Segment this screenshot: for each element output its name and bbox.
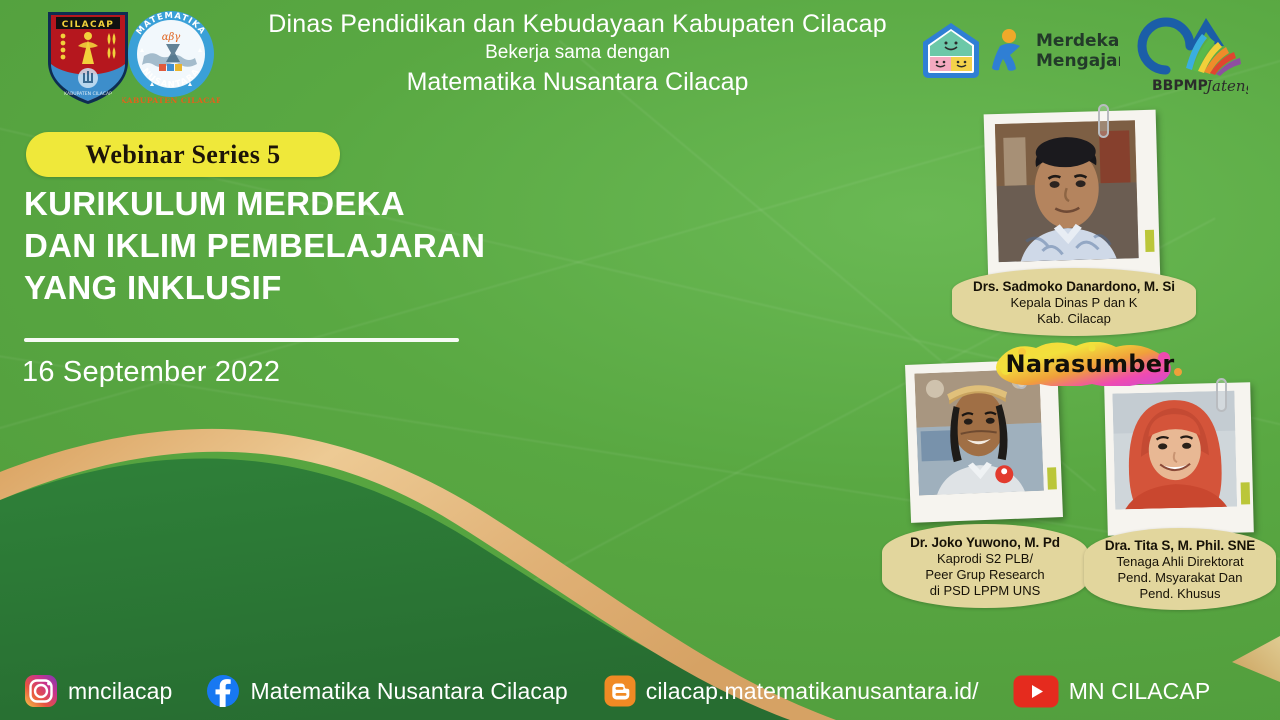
paperclip-icon [1098,104,1109,138]
matematika-nusantara-logo: MATEMATIKA NUSANTARA αβγ [122,8,220,106]
speaker-role-line: Tenaga Ahli Direktorat [1116,554,1243,570]
speaker-card [898,362,1076,528]
speaker-name: Dr. Joko Yuwono, M. Pd [910,534,1060,551]
platform-merdeka-mengajar-house-icon [920,20,982,82]
speaker-role-line: di PSD LPPM UNS [930,583,1041,599]
speaker-nameplate: Dra. Tita S, M. Phil. SNE Tenaga Ahli Di… [1084,528,1276,610]
speaker-role-line: Kepala Dinas P dan K [1011,295,1138,311]
youtube-icon[interactable] [1013,675,1059,708]
blogger-url[interactable]: cilacap.matematikanusantara.id/ [646,678,979,705]
speaker-name: Dra. Tita S, M. Phil. SNE [1105,537,1255,554]
webinar-poster: CILACAP KABUPATEN CILACAP [0,0,1280,720]
speaker-nameplate: Dr. Joko Yuwono, M. Pd Kaprodi S2 PLB/ P… [882,524,1088,608]
footer-facebook[interactable]: Matematika Nusantara Cilacap [206,674,567,708]
bbpmp-jateng-logo: BBPMP Jateng [1128,6,1248,98]
speaker-photo [995,120,1139,262]
title-line-1: KURIKULUM MERDEKA [24,183,644,225]
social-footer: mncilacap Matematika Nusantara Cilacap c… [0,662,1280,720]
crest-banner-text: CILACAP [62,20,115,30]
polaroid-frame [984,110,1161,287]
instagram-icon[interactable] [24,674,58,708]
merdeka-text: Merdeka [1036,31,1119,51]
title-line-3: YANG INKLUSIF [24,267,644,309]
washi-tape [1145,230,1155,252]
blogger-icon[interactable] [604,675,636,707]
svg-text:KABUPATEN CILACAP: KABUPATEN CILACAP [64,91,112,97]
speaker-role-line: Kab. Cilacap [1037,311,1111,327]
title-line-2: DAN IKLIM PEMBELAJARAN [24,225,644,267]
cilacap-crest-logo: CILACAP KABUPATEN CILACAP [42,6,134,106]
polaroid-frame [1104,382,1254,536]
speaker-role-line: Kaprodi S2 PLB/ [937,551,1033,567]
speaker-role-line: Pend. Msyarakat Dan [1117,570,1242,586]
speaker-nameplate: Drs. Sadmoko Danardono, M. Si Kepala Din… [952,268,1196,336]
youtube-channel-name[interactable]: MN CILACAP [1069,678,1211,705]
header-title-block: Dinas Pendidikan dan Kebudayaan Kabupate… [225,8,930,99]
header-line-3: Matematika Nusantara Cilacap [225,66,930,99]
facebook-icon[interactable] [206,674,240,708]
instagram-handle[interactable]: mncilacap [68,678,172,705]
narasumber-label: Narasumber [992,342,1188,386]
page-title: KURIKULUM MERDEKA DAN IKLIM PEMBELAJARAN… [24,183,644,309]
event-date: 16 September 2022 [22,356,280,389]
speaker-card [972,112,1172,287]
bbpmp-text: BBPMP [1152,78,1208,94]
speaker-card [1098,384,1270,540]
mn-sub-text: KABUPATEN CILACAP [122,96,220,105]
title-divider [24,338,459,342]
speaker-name: Drs. Sadmoko Danardono, M. Si [973,278,1175,295]
speaker-role-line: Peer Grup Research [925,567,1044,583]
footer-youtube[interactable]: MN CILACAP [1013,675,1211,708]
footer-blogger[interactable]: cilacap.matematikanusantara.id/ [604,675,979,707]
merdeka-mengajar-logo: Merdeka Mengajar [990,22,1120,80]
facebook-page-name[interactable]: Matematika Nusantara Cilacap [250,678,567,705]
jateng-text: Jateng [1203,77,1248,95]
mn-greek-symbols: αβγ [162,32,181,43]
washi-tape [1241,482,1251,504]
footer-instagram[interactable]: mncilacap [24,674,172,708]
webinar-series-badge: Webinar Series 5 [26,132,340,177]
washi-tape [1047,467,1057,489]
mengajar-text: Mengajar [1036,51,1120,71]
paperclip-icon [1216,378,1227,412]
speaker-role-line: Pend. Khusus [1140,586,1221,602]
narasumber-banner: Narasumber [992,342,1188,386]
header-line-2: Bekerja sama dengan [225,40,930,66]
poster-header: CILACAP KABUPATEN CILACAP [0,0,1280,112]
header-line-1: Dinas Pendidikan dan Kebudayaan Kabupate… [225,8,930,40]
